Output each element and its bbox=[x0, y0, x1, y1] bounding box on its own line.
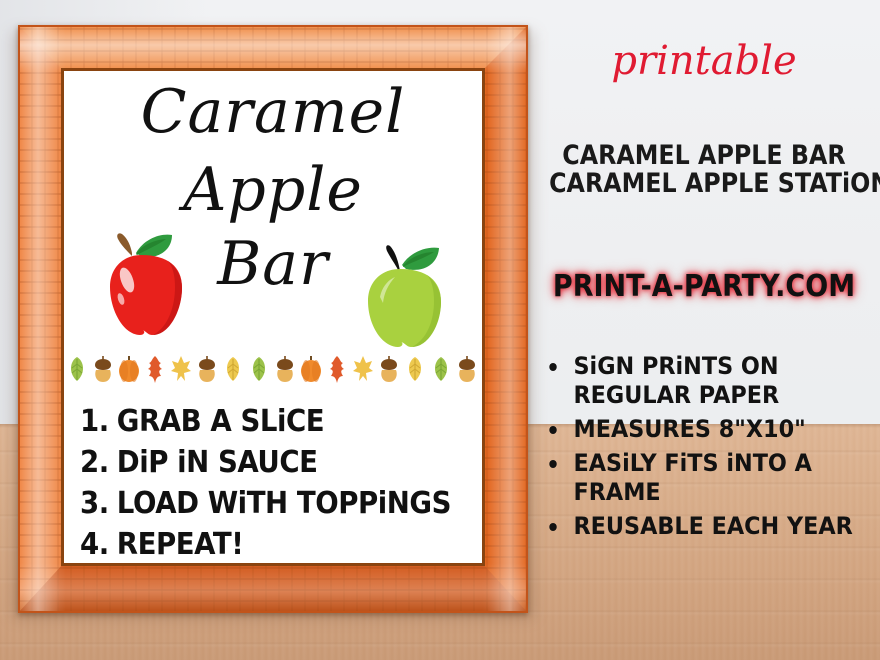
feature-item: REUSABLE EACH YEAR bbox=[540, 512, 856, 541]
marketing-panel: printable CARAMEL APPLE BAR CARAMEL APPL… bbox=[528, 0, 880, 660]
feature-item: SiGN PRiNTS ON REGULAR PAPER bbox=[540, 352, 856, 410]
step-label: REPEAT! bbox=[117, 524, 244, 563]
feature-item: EASiLY FiTS iNTO A FRAME bbox=[540, 449, 856, 507]
green-apple-icon bbox=[342, 235, 460, 353]
step-number: 4. bbox=[80, 524, 117, 563]
step-number: 3. bbox=[80, 483, 117, 524]
fall-decor-border bbox=[64, 353, 482, 387]
step-label: GRAB A SLiCE bbox=[117, 401, 324, 442]
printable-sign: Caramel Apple Bar bbox=[64, 71, 482, 563]
poster-title-line1: Caramel Apple bbox=[64, 73, 482, 229]
step-item: 3. LOAD WiTH TOPPiNGS bbox=[80, 483, 450, 524]
step-number: 2. bbox=[80, 442, 117, 483]
step-label: DiP iN SAUCE bbox=[117, 442, 318, 483]
framed-poster[interactable]: Caramel Apple Bar bbox=[18, 25, 528, 613]
step-item: 1. GRAB A SLiCE bbox=[80, 401, 450, 442]
step-number: 1. bbox=[80, 401, 117, 442]
red-apple-icon bbox=[80, 223, 202, 345]
product-headline-line2: CARAMEL APPLE STATiON bbox=[549, 168, 859, 200]
website-url[interactable]: PRINT-A-PARTY.COM bbox=[546, 268, 863, 306]
printable-script-label: printable bbox=[528, 38, 880, 84]
step-item: 2. DiP iN SAUCE bbox=[80, 442, 450, 483]
steps-list: 1. GRAB A SLiCE 2. DiP iN SAUCE 3. LOAD … bbox=[80, 401, 482, 563]
feature-list: SiGN PRiNTS ON REGULAR PAPER MEASURES 8"… bbox=[540, 352, 880, 546]
feature-item: MEASURES 8"X10" bbox=[540, 415, 856, 444]
step-item: 4. REPEAT! bbox=[80, 524, 450, 563]
step-label: LOAD WiTH TOPPiNGS bbox=[117, 483, 451, 524]
